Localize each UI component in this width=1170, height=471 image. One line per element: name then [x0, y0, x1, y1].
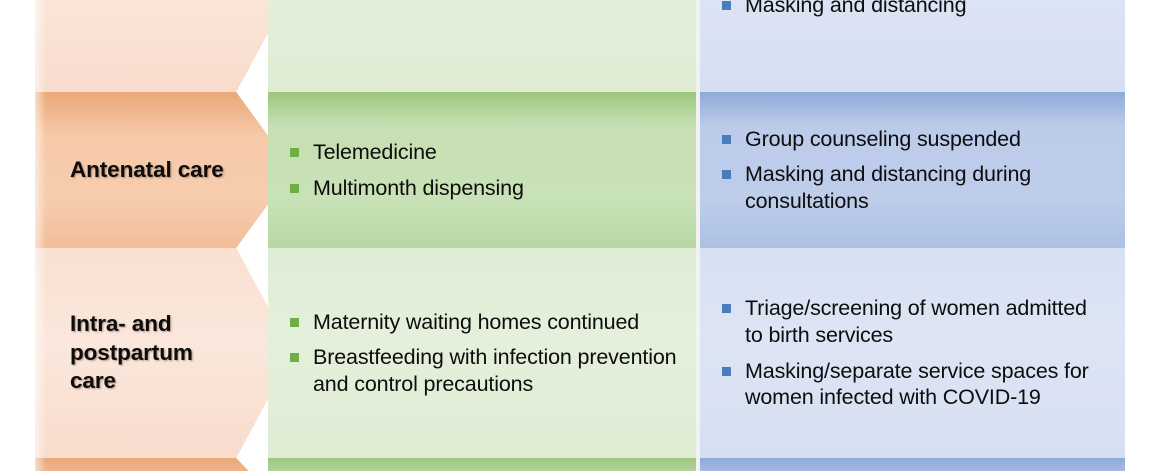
row-label-chevron: Intra- and postpartum care	[35, 248, 293, 458]
table-row	[0, 458, 1170, 471]
adaptations-bullet-list: Telemedicine Multimonth dispensing	[284, 130, 678, 210]
service-adaptation-diagram: Group counseling suspended Masking and d…	[0, 0, 1170, 471]
list-item: Telemedicine	[284, 139, 678, 166]
row-adaptations-cell: Telemedicine Multimonth dispensing	[268, 92, 696, 248]
table-row: Antenatal care Telemedicine Multimonth d…	[0, 92, 1170, 248]
row-adaptations-cell: Maternity waiting homes continued Breast…	[268, 248, 696, 458]
row-label-text: Intra- and postpartum care	[35, 310, 293, 395]
row-label-text: Antenatal care	[35, 156, 276, 184]
row-label-chevron	[35, 458, 293, 471]
list-item: Masking and distancing during consultati…	[716, 161, 1107, 214]
row-precautions-cell: Group counseling suspended Masking and d…	[700, 92, 1125, 248]
column-divider	[696, 0, 700, 471]
row-precautions-cell	[700, 458, 1125, 471]
row-precautions-cell: Triage/screening of women admitted to bi…	[700, 248, 1125, 458]
table-row: Group counseling suspended Masking and d…	[0, 0, 1170, 92]
list-item: Multimonth dispensing	[284, 175, 678, 202]
adaptations-bullet-list: Maternity waiting homes continued Breast…	[284, 300, 678, 407]
list-item: Group counseling suspended	[716, 126, 1107, 153]
list-item: Masking/separate service spaces for wome…	[716, 358, 1107, 411]
precautions-bullet-list: Group counseling suspended Masking and d…	[716, 117, 1107, 224]
list-item: Breastfeeding with infection prevention …	[284, 344, 678, 397]
row-adaptations-cell	[268, 458, 696, 471]
row-label-chevron: Antenatal care	[35, 92, 293, 248]
list-item: Maternity waiting homes continued	[284, 309, 678, 336]
table-row: Intra- and postpartum care Maternity wai…	[0, 248, 1170, 458]
list-item: Triage/screening of women admitted to bi…	[716, 295, 1107, 348]
precautions-bullet-list: Group counseling suspended Masking and d…	[716, 0, 1107, 27]
row-precautions-cell: Group counseling suspended Masking and d…	[700, 0, 1125, 92]
row-adaptations-cell	[268, 0, 696, 92]
row-label-chevron	[35, 0, 293, 92]
precautions-bullet-list: Triage/screening of women admitted to bi…	[716, 286, 1107, 420]
list-item: Masking and distancing	[716, 0, 1107, 18]
